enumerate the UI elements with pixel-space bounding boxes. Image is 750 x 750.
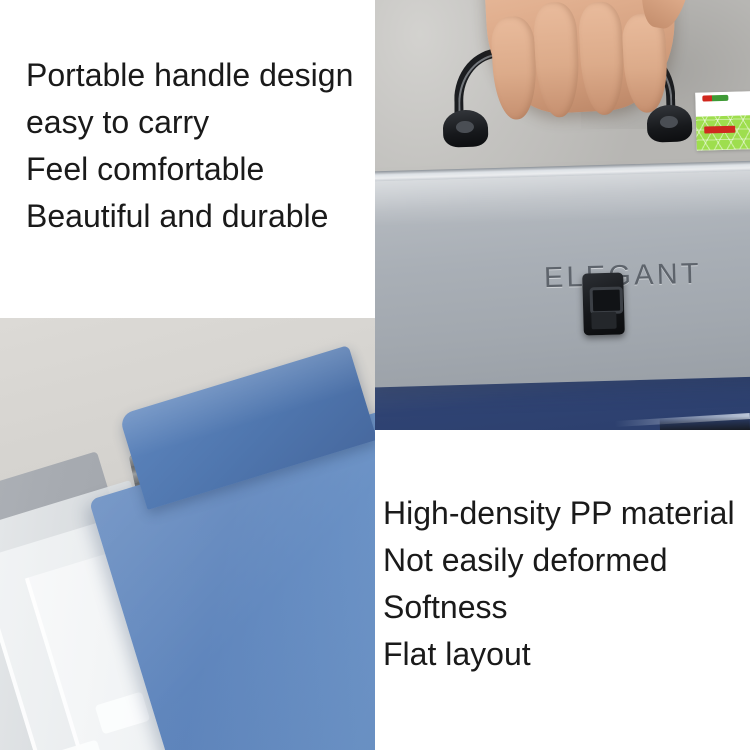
feature-text-material-block: High-density PP material Not easily defo… [383,490,735,678]
clasp-base-pad [592,311,617,329]
panel-highlight [375,171,750,228]
clasp-latch-ring [590,286,623,314]
material-line-2: Not easily deformed [383,537,735,584]
product-label-sticker [695,92,750,152]
handle-anchor-rivet [455,120,473,133]
handle-anchor-left [442,109,488,147]
photo-open-expanding-folder [0,318,375,750]
product-feature-collage: Portable handle design easy to carry Fee… [0,0,750,750]
human-hand [481,0,679,117]
finger-ring [577,1,626,116]
feature-line-1: Portable handle design [26,52,353,99]
finger-middle [532,1,581,118]
feature-line-3: Feel comfortable [26,146,353,193]
photo-hand-holding-case: ELEGANT [375,0,750,430]
material-line-1: High-density PP material [383,490,735,537]
material-line-3: Softness [383,584,735,631]
feature-line-2: easy to carry [26,99,353,146]
sticker-green-pattern [696,116,750,151]
sticker-brand-logo [702,95,728,102]
feature-text-handle-block: Portable handle design easy to carry Fee… [26,52,353,240]
sticker-red-text [704,126,736,134]
feature-line-4: Beautiful and durable [26,193,353,240]
case-clasp [582,272,625,335]
panel-top-left-text: Portable handle design easy to carry Fee… [0,0,375,318]
sticker-top-white [695,92,750,118]
material-line-4: Flat layout [383,631,735,678]
handle-anchor-rivet [659,116,677,129]
case-bottom-edge [660,416,750,430]
